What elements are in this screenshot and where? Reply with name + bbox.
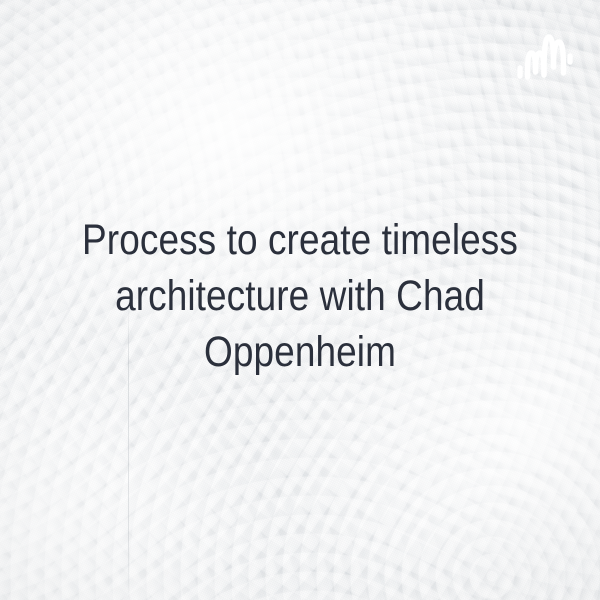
episode-title: Process to create timeless architecture …: [0, 212, 600, 380]
title-line-3: Oppenheim: [82, 324, 519, 380]
podcast-cover-art: Process to create timeless architecture …: [0, 0, 600, 600]
title-line-1: Process to create timeless: [82, 212, 519, 268]
anchor-waveform-logo-icon: [516, 32, 574, 82]
title-line-2: architecture with Chad: [82, 268, 519, 324]
